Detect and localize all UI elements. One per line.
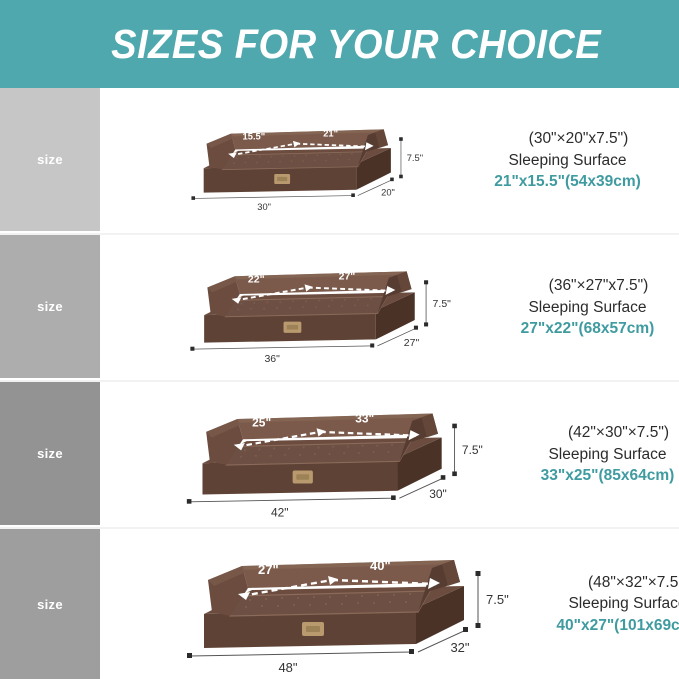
outer-dim-width: 30" bbox=[257, 201, 271, 211]
outer-dim-width: 48" bbox=[278, 660, 297, 675]
outer-dim-height: 7.5" bbox=[462, 443, 483, 457]
outer-dim-height: 7.5" bbox=[486, 592, 509, 607]
header-banner: SIZES FOR YOUR CHOICE bbox=[0, 0, 679, 88]
inner-dim-left: 27" bbox=[258, 562, 279, 577]
bed-illustration-4: 27" 40" 48" 32" 7.5" bbox=[100, 529, 520, 679]
outer-dim-height: 7.5" bbox=[433, 298, 452, 310]
overall-dimensions: (30"×20"x7.5") bbox=[507, 128, 629, 149]
bed-illustration-cell-4: 27" 40" 48" 32" 7.5" bbox=[100, 529, 520, 679]
sleeping-surface-caption: Sleeping Surface bbox=[508, 150, 626, 171]
size-swatch-cell-1: size bbox=[0, 88, 100, 233]
outer-dim-depth: 27" bbox=[404, 337, 420, 349]
outer-dim-depth: 20" bbox=[381, 187, 395, 197]
sleeping-surface-size: 40"x27"(101x69cm) bbox=[556, 615, 679, 636]
sleeping-surface-caption: Sleeping Surface bbox=[548, 444, 666, 465]
size-row: size bbox=[0, 529, 679, 679]
size-text-cell-1: (30"×20"x7.5") Sleeping Surface 21"x15.5… bbox=[460, 88, 679, 233]
inner-dim-right: 40" bbox=[370, 558, 391, 573]
bed-illustration-3: 25" 33" 42" 30" 7.5" bbox=[100, 381, 500, 528]
sleeping-surface-size: 27"x22"(68x57cm) bbox=[521, 318, 655, 339]
sleeping-surface-caption: Sleeping Surface bbox=[528, 297, 646, 318]
bed-illustration-2: 22" 27" 36" 27" 7.5" bbox=[100, 235, 480, 380]
outer-dim-height: 7.5" bbox=[407, 153, 423, 163]
inner-dim-right: 21" bbox=[323, 128, 338, 138]
bed-illustration-cell-2: 22" 27" 36" 27" 7.5" bbox=[100, 235, 480, 380]
sleeping-surface-caption: Sleeping Surface bbox=[568, 593, 679, 614]
size-swatch-cell-3: size bbox=[0, 382, 100, 527]
sleeping-surface-size: 21"x15.5"(54x39cm) bbox=[494, 171, 641, 192]
size-row: size bbox=[0, 88, 679, 235]
inner-dim-left: 25" bbox=[252, 415, 271, 429]
size-swatch-label: size bbox=[37, 152, 63, 167]
size-chart-page: SIZES FOR YOUR CHOICE size bbox=[0, 0, 679, 679]
size-swatch-label: size bbox=[37, 299, 63, 314]
overall-dimensions: (36"×27"x7.5") bbox=[527, 275, 649, 296]
size-text-cell-2: (36"×27"x7.5") Sleeping Surface 27"x22"(… bbox=[480, 235, 679, 380]
bed-illustration-cell-1: 15.5" 21" 30" 20" bbox=[100, 88, 460, 233]
size-swatch-cell-4: size bbox=[0, 529, 100, 679]
outer-dim-depth: 30" bbox=[429, 487, 447, 501]
page-title: SIZES FOR YOUR CHOICE bbox=[78, 21, 601, 68]
inner-dim-right: 27" bbox=[339, 270, 356, 282]
outer-dim-width: 42" bbox=[271, 506, 289, 520]
size-text-cell-3: (42"×30"×7.5") Sleeping Surface 33"x25"(… bbox=[500, 382, 679, 527]
inner-dim-left: 15.5" bbox=[243, 131, 266, 141]
size-swatch-cell-2: size bbox=[0, 235, 100, 380]
bed-illustration-1: 15.5" 21" 30" 20" bbox=[100, 91, 460, 231]
size-swatch-label: size bbox=[37, 446, 63, 461]
size-text-cell-4: (48"×32"×7.5") Sleeping Surface 40"x27"(… bbox=[520, 529, 679, 679]
size-rows: size bbox=[0, 88, 679, 679]
inner-dim-left: 22" bbox=[248, 274, 265, 286]
outer-dim-width: 36" bbox=[264, 353, 280, 365]
size-row: size bbox=[0, 382, 679, 529]
size-swatch-label: size bbox=[37, 597, 63, 612]
overall-dimensions: (42"×30"×7.5") bbox=[546, 422, 669, 443]
inner-dim-right: 33" bbox=[355, 412, 374, 426]
bed-illustration-cell-3: 25" 33" 42" 30" 7.5" bbox=[100, 382, 500, 527]
sleeping-surface-size: 33"x25"(85x64cm) bbox=[541, 465, 675, 486]
outer-dim-depth: 32" bbox=[450, 640, 469, 655]
overall-dimensions: (48"×32"×7.5") bbox=[566, 572, 679, 593]
size-row: size bbox=[0, 235, 679, 382]
